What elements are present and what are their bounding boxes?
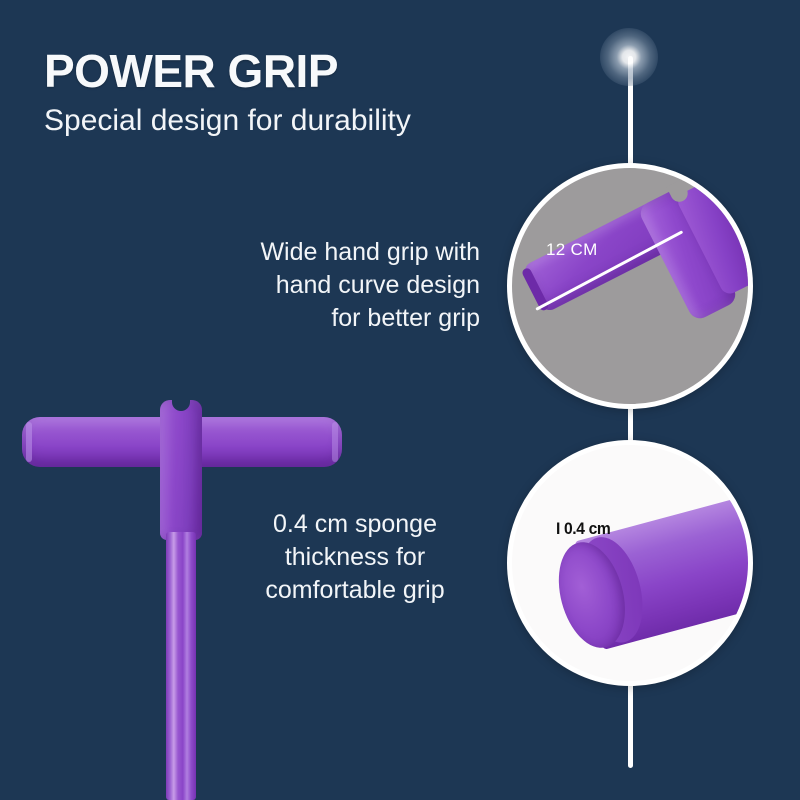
feature-caption-sponge-thickness: 0.4 cm sponge thickness for comfortable … — [230, 508, 480, 607]
feature-caption-wide-hand-grip: Wide hand grip with hand curve design fo… — [150, 236, 480, 335]
caption-line: thickness for — [230, 541, 480, 574]
measurement-label-12cm: 12 CM — [546, 240, 598, 260]
caption-line: comfortable grip — [230, 574, 480, 607]
page-title: POWER GRIP — [44, 44, 338, 98]
page-subtitle: Special design for durability — [44, 104, 411, 138]
caption-line: 0.4 cm sponge — [230, 508, 480, 541]
product-vertical-sleeve — [160, 400, 202, 540]
callout-circle-grip-length: 12 CM — [507, 163, 753, 409]
measurement-label-04cm: I 0.4 cm — [556, 519, 610, 539]
product-shaft — [166, 532, 196, 800]
caption-line: Wide hand grip with — [150, 236, 480, 269]
caption-line: for better grip — [150, 302, 480, 335]
callout-foam-tube — [547, 489, 753, 657]
caption-line: hand curve design — [150, 269, 480, 302]
product-infographic: POWER GRIP Special design for durability… — [0, 0, 800, 800]
callout-circle-sponge-thickness — [507, 440, 753, 686]
glow-dot-icon — [600, 28, 658, 86]
